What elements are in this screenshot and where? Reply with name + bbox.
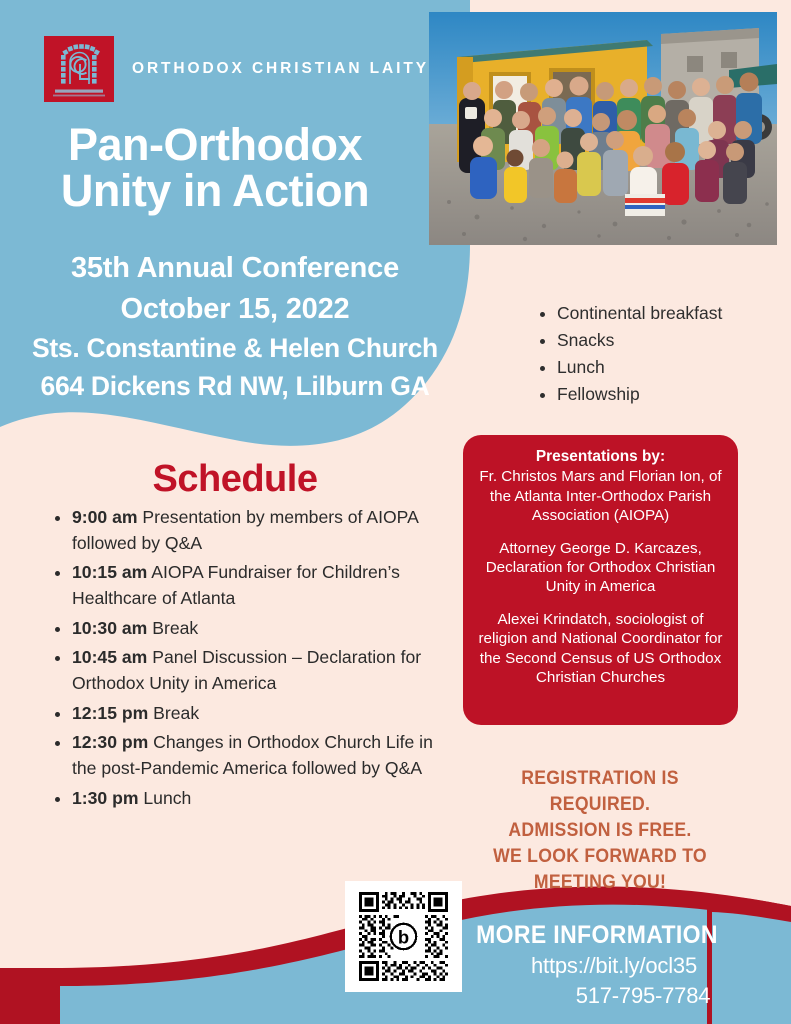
schedule-time: 10:45 am [72, 647, 147, 667]
schedule-item: 10:30 am Break [72, 616, 448, 642]
more-information-heading: MORE INFORMATION [473, 921, 721, 950]
schedule-list: 9:00 am Presentation by members of AIOPA… [48, 505, 448, 815]
amenities-list: Continental breakfast Snacks Lunch Fello… [535, 305, 775, 413]
presentation-block: Alexei Krindatch, sociologist of religio… [475, 610, 726, 687]
detail-address: 664 Dickens Rd NW, Lilburn GA [0, 368, 470, 406]
footer-contact: MORE INFORMATION https://bit.ly/ocl35 51… [462, 921, 732, 1009]
detail-venue: Sts. Constantine & Helen Church [0, 330, 470, 368]
registration-notice: REGISTRATION IS REQUIRED. ADMISSION IS F… [470, 765, 731, 895]
page-title: Pan-Orthodox Unity in Action [0, 122, 430, 214]
presentations-card: Presentations by: Fr. Christos Mars and … [463, 435, 738, 725]
detail-conference-number: 35th Annual Conference [0, 248, 470, 289]
schedule-time: 10:30 am [72, 618, 147, 638]
registration-line-1: REGISTRATION IS REQUIRED. [470, 765, 731, 817]
detail-date: October 15, 2022 [0, 289, 470, 330]
bitly-qr-code[interactable]: b [345, 881, 462, 992]
list-item: Continental breakfast [557, 305, 775, 323]
conference-details: 35th Annual Conference October 15, 2022 … [0, 248, 470, 406]
list-item: Snacks [557, 332, 775, 350]
contact-phone[interactable]: 517-795-7784 [462, 983, 732, 1009]
registration-url[interactable]: https://bit.ly/ocl35 [462, 953, 732, 979]
schedule-time: 1:30 pm [72, 788, 139, 808]
schedule-desc: Lunch [143, 788, 191, 808]
registration-line-4: MEETING YOU! [470, 869, 731, 895]
schedule-item: 1:30 pm Lunch [72, 786, 448, 812]
presentation-block: Fr. Christos Mars and Florian Ion, of th… [475, 467, 726, 524]
schedule-item: 10:15 am AIOPA Fundraiser for Children’s… [72, 560, 448, 611]
ocl-logo [44, 36, 114, 102]
schedule-time: 10:15 am [72, 562, 147, 582]
svg-text:b: b [398, 927, 409, 948]
headline-line-2: Unity in Action [0, 168, 430, 214]
group-photo [429, 12, 777, 245]
headline-line-1: Pan-Orthodox [68, 119, 362, 170]
list-item: Lunch [557, 359, 775, 377]
schedule-item: 9:00 am Presentation by members of AIOPA… [72, 505, 448, 556]
schedule-time: 12:30 pm [72, 732, 148, 752]
schedule-desc: Break [152, 618, 198, 638]
organization-name: ORTHODOX CHRISTIAN LAITY [132, 60, 429, 78]
schedule-time: 9:00 am [72, 507, 138, 527]
schedule-desc: Break [153, 703, 199, 723]
schedule-time: 12:15 pm [72, 703, 148, 723]
presentations-heading: Presentations by: [475, 447, 726, 466]
schedule-item: 10:45 am Panel Discussion – Declaration … [72, 645, 448, 696]
list-item: Fellowship [557, 386, 775, 404]
registration-line-2: ADMISSION IS FREE. [470, 817, 731, 843]
schedule-item: 12:30 pm Changes in Orthodox Church Life… [72, 730, 448, 781]
registration-line-3: WE LOOK FORWARD TO [470, 843, 731, 869]
schedule-item: 12:15 pm Break [72, 701, 448, 727]
presentation-block: Attorney George D. Karcazes, Declaration… [475, 539, 726, 596]
flyer-poster: ORTHODOX CHRISTIAN LAITY Pan-Orthodox Un… [0, 0, 791, 1024]
schedule-heading: Schedule [0, 458, 470, 501]
